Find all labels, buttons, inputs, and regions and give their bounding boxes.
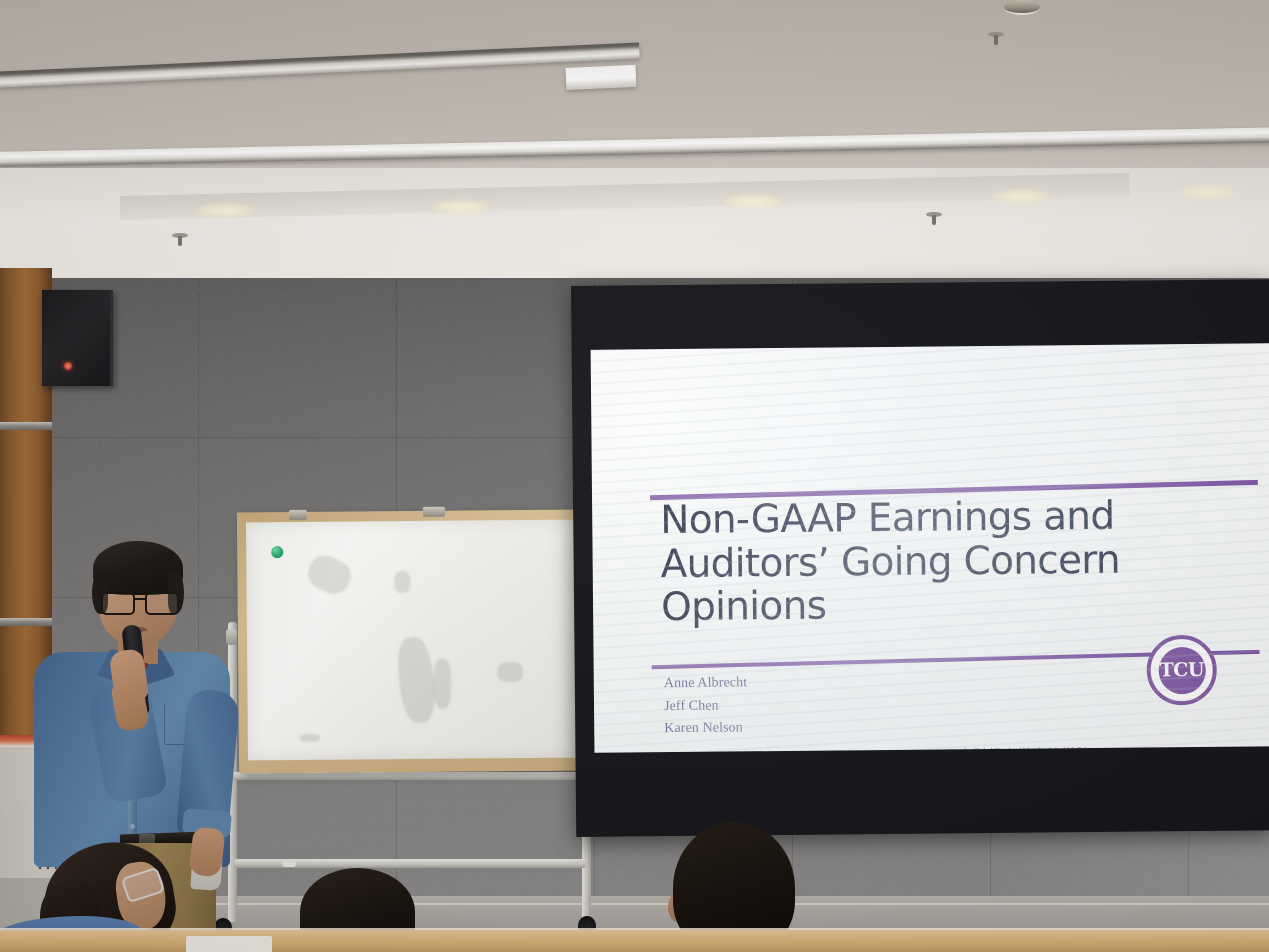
- slide-author-list: Anne Albrecht Jeff Chen Karen Nelson: [664, 672, 748, 741]
- whiteboard-smudge: [433, 659, 451, 709]
- slide-affiliation: 云南财经大学会计学院: [852, 743, 1182, 753]
- downlight: [992, 190, 1050, 203]
- slide-title-line-2: Auditors’ Going Concern: [660, 537, 1220, 586]
- tcu-logo-label: TCU: [1159, 660, 1204, 679]
- presentation-photo-scene: Non-GAAP Earnings and Auditors’ Going Co…: [0, 0, 1269, 952]
- column-metal-band: [0, 618, 52, 626]
- whiteboard-pivot-knob-left[interactable]: [226, 629, 237, 645]
- whiteboard-smudge: [395, 635, 439, 724]
- speaker-led-indicator: [64, 362, 72, 370]
- slide-author: Jeff Chen: [664, 695, 748, 718]
- wall-speaker: [42, 290, 113, 386]
- whiteboard: [237, 509, 585, 773]
- whiteboard-smudge: [300, 734, 320, 742]
- whiteboard-clip-center[interactable]: [423, 507, 445, 517]
- sprinkler-icon: [926, 212, 942, 228]
- slide-title: Non-GAAP Earnings and Auditors’ Going Co…: [660, 494, 1221, 630]
- projection-screen: Non-GAAP Earnings and Auditors’ Going Co…: [571, 279, 1269, 837]
- slide-author: Anne Albrecht: [664, 672, 748, 695]
- downlight: [724, 195, 782, 208]
- ceiling-light-panel-bright: [566, 65, 637, 90]
- downlight: [1178, 186, 1236, 199]
- column-metal-band: [0, 422, 52, 430]
- slide-affiliation-block: 云南财经大学会计学院 2019年7月8日: [852, 743, 1182, 753]
- whiteboard-smudge: [303, 551, 355, 599]
- sprinkler-icon: [988, 32, 1004, 48]
- tcu-logo-icon: TCU: [1146, 635, 1217, 706]
- smoke-detector-icon: [1004, 0, 1040, 15]
- slide-title-line-3: Opinions: [661, 581, 1221, 630]
- whiteboard-smudge: [394, 571, 410, 593]
- whiteboard-crossbar-upper: [232, 772, 588, 780]
- whiteboard-crossbar-joint: [282, 861, 296, 867]
- eyeglass-bridge: [133, 598, 146, 600]
- desk-paper: [186, 936, 272, 952]
- tcu-logo-inner-circle: TCU: [1158, 646, 1205, 693]
- eyeglass-lens-right: [145, 592, 179, 615]
- slide-title-line-1: Non-GAAP Earnings and: [660, 494, 1220, 543]
- whiteboard-surface[interactable]: [246, 520, 576, 761]
- downlight: [432, 200, 490, 213]
- eyeglass-lens-left: [101, 592, 135, 615]
- presenter-shirt-button: [130, 824, 135, 829]
- slide-author: Karen Nelson: [664, 718, 748, 741]
- whiteboard-clip-left[interactable]: [289, 510, 307, 520]
- downlight: [196, 204, 254, 217]
- whiteboard-magnet[interactable]: [271, 546, 283, 558]
- whiteboard-smudge: [497, 662, 523, 682]
- presentation-slide: Non-GAAP Earnings and Auditors’ Going Co…: [591, 343, 1269, 752]
- eyeglasses-icon: [100, 592, 178, 611]
- sprinkler-icon: [172, 233, 188, 249]
